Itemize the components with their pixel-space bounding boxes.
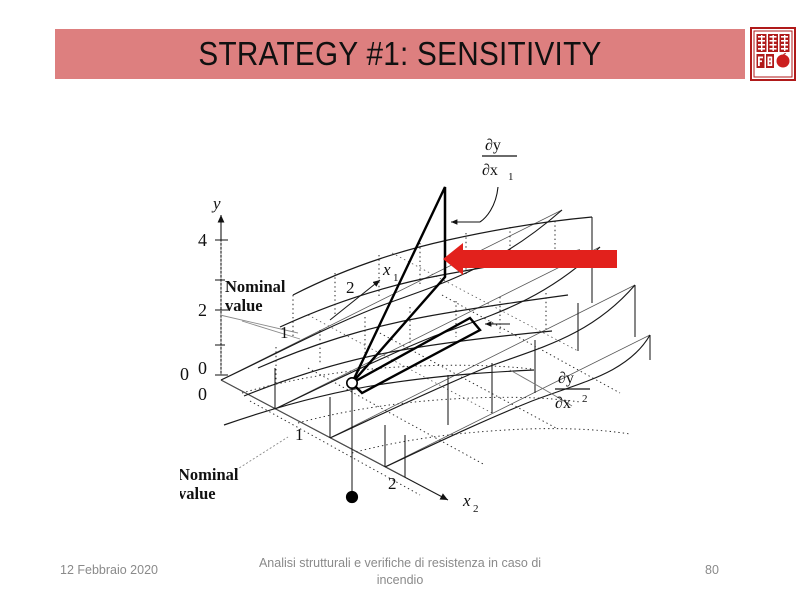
partial-dy-dx1-denominator-subscript: 1 bbox=[508, 171, 514, 183]
x2-tick-2: 2 bbox=[388, 474, 397, 493]
footer-subtitle-line1: Analisi strutturali e verifiche di resis… bbox=[259, 556, 498, 570]
slide-title-bar: STRATEGY #1: SENSITIVITY bbox=[55, 29, 745, 79]
partial-dy-dx2-denominator-superscript: 2 bbox=[582, 393, 588, 405]
x1-axis-subscript: 1 bbox=[393, 272, 399, 284]
nominal-value-top-line2: value bbox=[225, 296, 263, 315]
x1-tick-2: 2 bbox=[346, 278, 355, 297]
partial-dy-dx1-denominator: ∂x bbox=[482, 162, 498, 179]
footer-page-number: 80 bbox=[705, 563, 745, 577]
partial-dy-dx2-denominator: ∂x bbox=[555, 395, 571, 412]
x1-axis-label: x bbox=[382, 260, 391, 279]
footer-date: 12 Febbraio 2020 bbox=[60, 563, 158, 577]
x2-axis-subscript: 2 bbox=[473, 503, 479, 515]
y-axis-label: y bbox=[211, 194, 221, 213]
y-tick-0: 0 bbox=[198, 358, 207, 378]
y-tick-2: 2 bbox=[198, 300, 207, 320]
page-title: STRATEGY #1: SENSITIVITY bbox=[90, 29, 711, 79]
x2-tick-1: 1 bbox=[295, 425, 304, 444]
x2-axis-label: x bbox=[462, 491, 471, 510]
fbo-seal-logo bbox=[750, 27, 796, 81]
x1-tick-1: 1 bbox=[280, 323, 289, 342]
partial-dy-dx1-numerator: ∂y bbox=[485, 137, 501, 154]
partial-dy-dx2-numerator: ∂y bbox=[558, 370, 574, 387]
nominal-value-bottom-line1: Nominal bbox=[180, 465, 239, 484]
footer-subtitle: Analisi strutturali e verifiche di resis… bbox=[255, 555, 545, 589]
sensitivity-3d-response-surface: y 4 2 0 0 0 x 1 2 1 x 2 1 2 Nominal valu… bbox=[180, 125, 660, 525]
nominal-value-top-line1: Nominal bbox=[225, 277, 286, 296]
origin-label-left: 0 bbox=[180, 364, 189, 384]
y-tick-4: 4 bbox=[198, 230, 207, 250]
nominal-value-bottom-line2: value bbox=[180, 484, 216, 503]
origin-label-below: 0 bbox=[198, 384, 207, 404]
